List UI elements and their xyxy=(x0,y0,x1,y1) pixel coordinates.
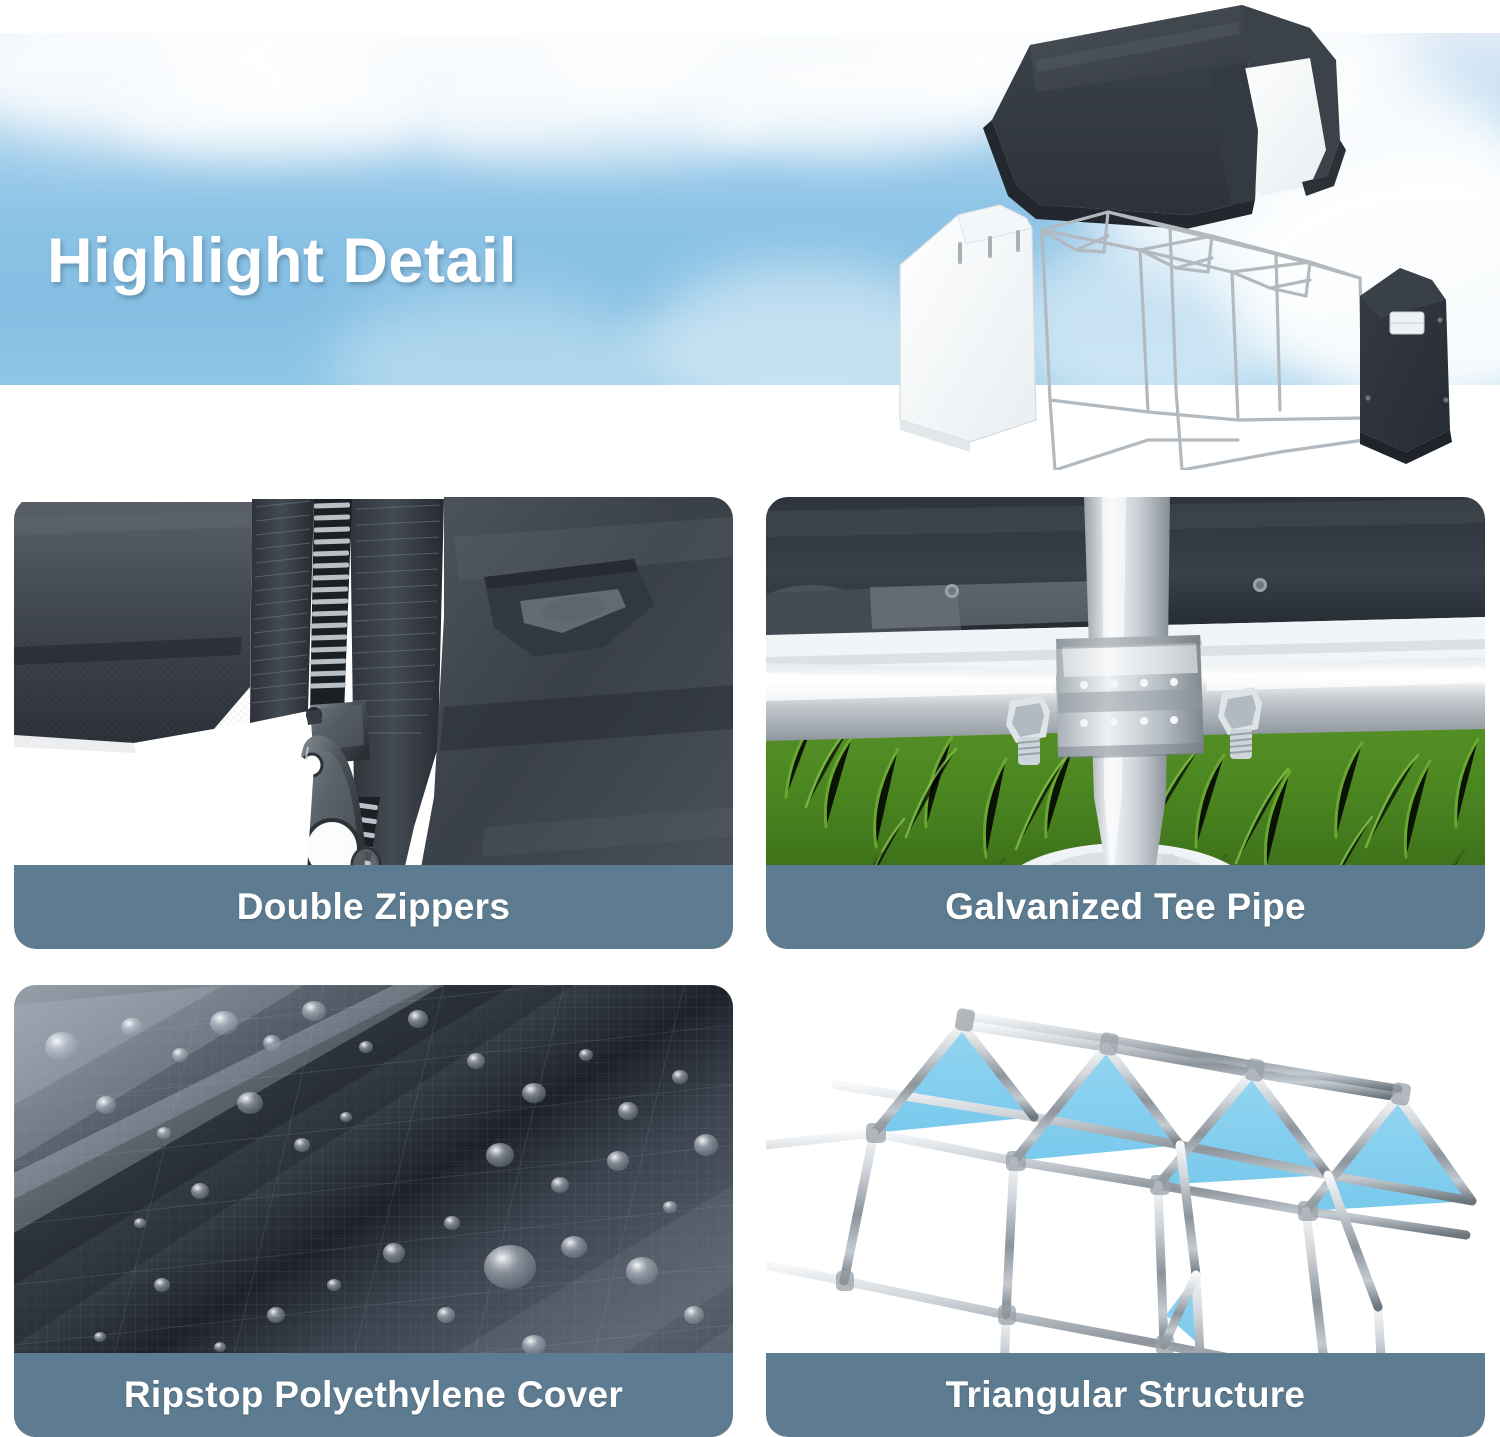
hero-product-illustration xyxy=(840,0,1500,470)
cloud-shape xyxy=(330,288,660,385)
white-end-panel xyxy=(900,205,1036,452)
feature-caption-label: Ripstop Polyethylene Cover xyxy=(124,1374,623,1416)
cloud-shape xyxy=(120,73,420,163)
feature-caption-bar: Galvanized Tee Pipe xyxy=(766,865,1485,949)
steel-frame xyxy=(1042,212,1364,470)
feature-grid: Double Zippers xyxy=(14,497,1486,1437)
roof-tarp-cover xyxy=(983,5,1346,229)
feature-caption-label: Triangular Structure xyxy=(946,1374,1306,1416)
feature-card-galvanized-tee-pipe[interactable]: Galvanized Tee Pipe xyxy=(766,497,1485,949)
dark-door-panel xyxy=(1360,268,1452,464)
banner-title: Highlight Detail xyxy=(47,225,517,297)
feature-caption-label: Galvanized Tee Pipe xyxy=(945,886,1306,928)
feature-card-double-zippers[interactable]: Double Zippers xyxy=(14,497,733,949)
feature-caption-bar: Triangular Structure xyxy=(766,1353,1485,1437)
feature-caption-label: Double Zippers xyxy=(237,886,511,928)
feature-caption-bar: Ripstop Polyethylene Cover xyxy=(14,1353,733,1437)
tee-fitting xyxy=(1056,635,1204,759)
feature-card-ripstop-cover[interactable]: Ripstop Polyethylene Cover xyxy=(14,985,733,1437)
feature-card-triangular-structure[interactable]: Triangular Structure xyxy=(766,985,1485,1437)
feature-caption-bar: Double Zippers xyxy=(14,865,733,949)
